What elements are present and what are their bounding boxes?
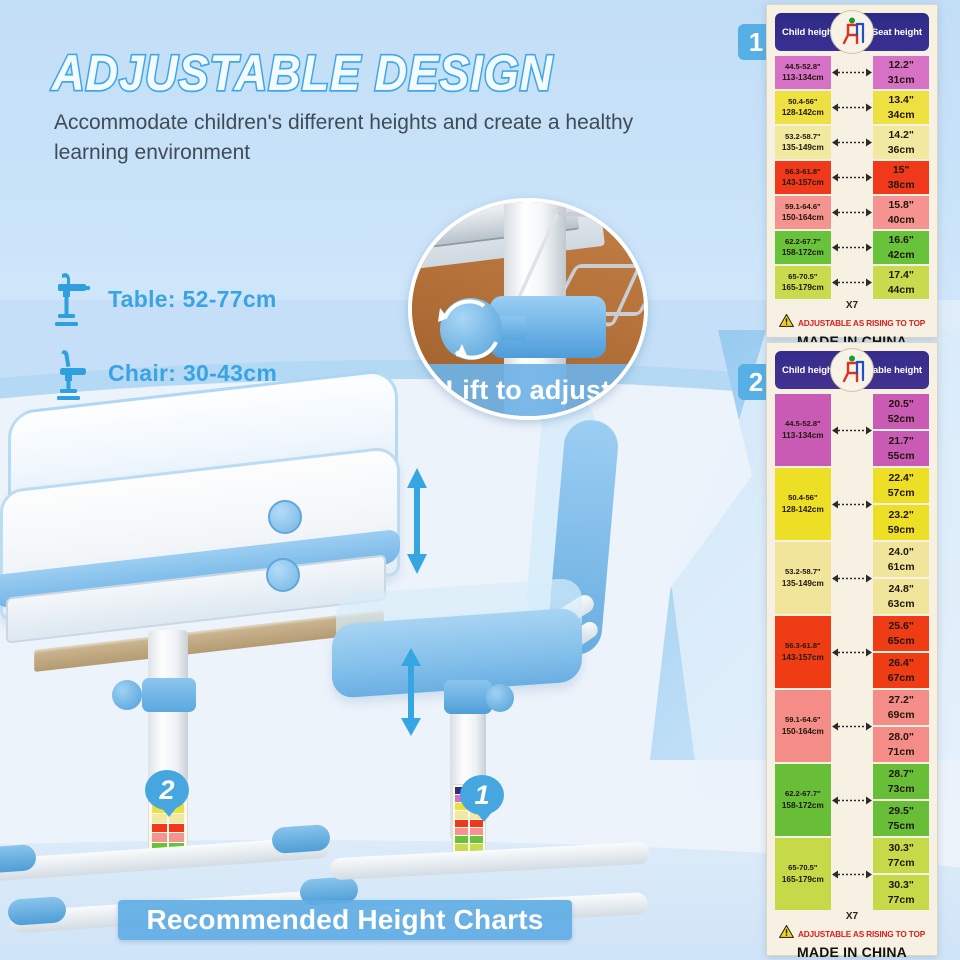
child-height-cm: 165-179cm	[782, 874, 824, 886]
chart-body: 44.5-52.8" 113-134cm 50.4-56" 128-142cm …	[775, 394, 929, 910]
chair-foot-bar-rear	[330, 842, 651, 881]
child-height-cm: 135-149cm	[782, 142, 824, 154]
desk-collar-knob	[112, 680, 142, 710]
chair-collar-knob	[486, 684, 514, 712]
table-row: 16.6" 42cm	[873, 231, 929, 264]
pairing-arrow-icon	[832, 126, 872, 159]
badge-desk-2: 2	[145, 770, 189, 810]
table-row: 15" 38cm	[873, 161, 929, 194]
child-height-cm: 158-172cm	[782, 800, 824, 812]
table-row: 28.0" 71cm	[873, 727, 929, 762]
rotate-arrow-icon	[436, 292, 506, 366]
table-row: 65-70.5" 165-179cm	[775, 838, 831, 910]
child-height-in: 53.2-58.7"	[785, 566, 821, 577]
child-height-in: 59.1-64.6"	[785, 714, 821, 725]
chart-table-height-column: 20.5" 52cm 21.7" 55cm 22.4" 57cm 23.2" 5…	[873, 394, 929, 910]
child-height-in: 56.3-61.8"	[785, 640, 821, 651]
table-height-chart: Child height Table height 44.5-52.8"	[766, 342, 938, 956]
table-height-in: 29.5"	[888, 804, 913, 818]
chart-origin: MADE IN CHINA	[775, 944, 929, 960]
table-row: 59.1-64.6" 150-164cm	[775, 196, 831, 229]
child-height-cm: 165-179cm	[782, 282, 824, 294]
table-row: 24.8" 63cm	[873, 579, 929, 614]
table-height-cm: 52cm	[888, 412, 915, 426]
seat-height-cm: 44cm	[888, 283, 915, 297]
table-height-cm: 73cm	[888, 782, 915, 796]
child-height-cm: 128-142cm	[782, 107, 824, 119]
seat-height-chart: Child height Seat height 44.5-52.8"	[766, 4, 938, 338]
seat-height-in: 15"	[893, 163, 910, 177]
chart-warning: ADJUSTABLE AS RISING TO TOP	[775, 314, 929, 332]
child-height-cm: 143-157cm	[782, 652, 824, 664]
seat-height-cm: 38cm	[888, 178, 915, 192]
chart-warning: ADJUSTABLE AS RISING TO TOP	[775, 925, 929, 943]
table-row: 29.5" 75cm	[873, 801, 929, 836]
table-row: 62.2-67.7" 158-172cm	[775, 231, 831, 264]
pairing-arrow-icon	[832, 91, 872, 124]
table-height-in: 26.4"	[888, 656, 913, 670]
chart-seat-height-column: 12.2" 31cm 13.4" 34cm 14.2" 36cm 15" 38c…	[873, 56, 929, 299]
table-height-cm: 77cm	[888, 856, 915, 870]
promo-image: ADJUSTABLE DESIGN Accommodate children's…	[0, 0, 960, 960]
table-row: 44.5-52.8" 113-134cm	[775, 56, 831, 89]
child-height-in: 62.2-67.7"	[785, 788, 821, 799]
seat-height-in: 16.6"	[888, 233, 913, 247]
child-height-in: 65-70.5"	[788, 271, 817, 282]
chart-child-height-column: 44.5-52.8" 113-134cm 50.4-56" 128-142cm …	[775, 394, 831, 910]
pairing-arrow-icon	[832, 542, 872, 614]
child-height-in: 53.2-58.7"	[785, 131, 821, 142]
table-row: 50.4-56" 128-142cm	[775, 468, 831, 540]
seat-height-cm: 31cm	[888, 73, 915, 87]
table-height-in: 30.3"	[888, 878, 913, 892]
table-row: 26.4" 67cm	[873, 653, 929, 688]
table-height-in: 25.6"	[888, 619, 913, 633]
table-row: 25.6" 65cm	[873, 616, 929, 651]
table-height-in: 27.2"	[888, 693, 913, 707]
table-height-in: 28.0"	[888, 730, 913, 744]
table-row: 59.1-64.6" 150-164cm	[775, 690, 831, 762]
table-row: 15.8" 40cm	[873, 196, 929, 229]
chart-multiplier: X7	[775, 300, 929, 311]
chart-col-table-height: Table height	[868, 365, 922, 376]
pairing-arrow-icon	[832, 468, 872, 540]
child-height-cm: 143-157cm	[782, 177, 824, 189]
pairing-arrow-icon	[832, 838, 872, 910]
desk-knob-upper	[268, 500, 302, 534]
child-height-cm: 150-164cm	[782, 212, 824, 224]
child-height-cm: 150-164cm	[782, 726, 824, 738]
table-row: 50.4-56" 128-142cm	[775, 91, 831, 124]
table-height-cm: 63cm	[888, 597, 915, 611]
child-height-in: 44.5-52.8"	[785, 418, 821, 429]
child-height-cm: 158-172cm	[782, 247, 824, 259]
seated-child-icon	[830, 348, 874, 392]
chart-col-seat-height: Seat height	[872, 27, 922, 38]
table-height-in: 24.8"	[888, 582, 913, 596]
table-row: 44.5-52.8" 113-134cm	[775, 394, 831, 466]
table-height-cm: 69cm	[888, 708, 915, 722]
child-height-in: 62.2-67.7"	[785, 236, 821, 247]
table-row: 65-70.5" 165-179cm	[775, 266, 831, 299]
chart-header-row: Child height Seat height	[775, 13, 929, 51]
table-row: 20.5" 52cm	[873, 394, 929, 429]
seated-child-icon	[830, 10, 874, 54]
spec-table: Table: 52-77cm	[52, 270, 277, 328]
chart-header-row: Child height Table height	[775, 351, 929, 389]
pairing-arrow-icon	[832, 161, 872, 194]
seat-height-in: 15.8"	[888, 198, 913, 212]
pairing-arrow-icon	[832, 690, 872, 762]
table-row: 14.2" 36cm	[873, 126, 929, 159]
recommended-height-charts-banner: Recommended Height Charts	[118, 900, 572, 940]
table-row: 27.2" 69cm	[873, 690, 929, 725]
child-height-in: 50.4-56"	[788, 96, 817, 107]
seat-height-cm: 34cm	[888, 108, 915, 122]
table-height-in: 24.0"	[888, 545, 913, 559]
chart-child-height-column: 44.5-52.8" 113-134cm 50.4-56" 128-142cm …	[775, 56, 831, 299]
table-height-in: 30.3"	[888, 841, 913, 855]
chair-collar	[444, 680, 492, 714]
desk-icon	[52, 270, 96, 328]
child-height-in: 59.1-64.6"	[785, 201, 821, 212]
table-height-in: 20.5"	[888, 397, 913, 411]
pairing-arrow-icon	[832, 231, 872, 264]
table-height-cm: 77cm	[888, 893, 915, 907]
table-row: 22.4" 57cm	[873, 468, 929, 503]
seat-height-cm: 42cm	[888, 248, 915, 262]
badge-chair-1: 1	[460, 775, 504, 815]
table-height-cm: 67cm	[888, 671, 915, 685]
seat-height-in: 13.4"	[888, 93, 913, 107]
child-height-in: 50.4-56"	[788, 492, 817, 503]
chart-body: 44.5-52.8" 113-134cm 50.4-56" 128-142cm …	[775, 56, 929, 299]
table-row: 56.3-61.8" 143-157cm	[775, 161, 831, 194]
height-arrow-chair-icon	[398, 646, 424, 743]
child-height-in: 56.3-61.8"	[785, 166, 821, 177]
pairing-arrow-icon	[832, 56, 872, 89]
table-row: 56.3-61.8" 143-157cm	[775, 616, 831, 688]
table-row: 62.2-67.7" 158-172cm	[775, 764, 831, 836]
warning-triangle-icon	[779, 314, 794, 332]
table-row: 12.2" 31cm	[873, 56, 929, 89]
table-row: 28.7" 73cm	[873, 764, 929, 799]
table-row: 13.4" 34cm	[873, 91, 929, 124]
desk-foot-cap	[271, 824, 331, 854]
table-row: 21.7" 55cm	[873, 431, 929, 466]
page-subtitle: Accommodate children's different heights…	[54, 108, 634, 169]
pairing-arrow-icon	[832, 764, 872, 836]
child-height-cm: 113-134cm	[782, 72, 823, 84]
pairing-arrow-icon	[832, 616, 872, 688]
table-row: 30.3" 77cm	[873, 838, 929, 873]
child-height-in: 65-70.5"	[788, 862, 817, 873]
table-height-cm: 65cm	[888, 634, 915, 648]
warning-triangle-icon	[779, 925, 794, 943]
chart-multiplier: X7	[775, 911, 929, 922]
table-height-in: 28.7"	[888, 767, 913, 781]
table-row: 53.2-58.7" 135-149cm	[775, 542, 831, 614]
seat-height-in: 14.2"	[888, 128, 913, 142]
table-row: 24.0" 61cm	[873, 542, 929, 577]
child-height-cm: 128-142cm	[782, 504, 824, 516]
seat-height-in: 17.4"	[888, 268, 913, 282]
seat-height-in: 12.2"	[888, 58, 913, 72]
pairing-arrow-icon	[832, 196, 872, 229]
spec-table-label: Table: 52-77cm	[108, 286, 277, 313]
warning-text: ADJUSTABLE AS RISING TO TOP	[798, 929, 925, 939]
child-height-cm: 113-134cm	[782, 430, 823, 442]
callout-label: Lift to adjust	[412, 364, 644, 416]
chart-col-child-height: Child height	[782, 365, 836, 376]
child-height-in: 44.5-52.8"	[785, 61, 821, 72]
page-title: ADJUSTABLE DESIGN	[52, 44, 553, 102]
table-row: 17.4" 44cm	[873, 266, 929, 299]
lift-to-adjust-callout: Lift to adjust	[408, 198, 648, 420]
table-row: 23.2" 59cm	[873, 505, 929, 540]
table-row: 30.3" 77cm	[873, 875, 929, 910]
table-height-cm: 59cm	[888, 523, 915, 537]
desk-knob-lower	[266, 558, 300, 592]
product-photo	[0, 380, 700, 960]
pairing-arrow-icon	[832, 266, 872, 299]
height-arrow-desk-icon	[404, 466, 430, 581]
table-height-cm: 57cm	[888, 486, 915, 500]
table-row: 53.2-58.7" 135-149cm	[775, 126, 831, 159]
table-height-in: 23.2"	[888, 508, 913, 522]
seat-height-cm: 36cm	[888, 143, 915, 157]
warning-text: ADJUSTABLE AS RISING TO TOP	[798, 318, 925, 328]
chart-arrow-column	[831, 56, 874, 299]
seat-height-cm: 40cm	[888, 213, 915, 227]
desk-foot-cap	[7, 896, 67, 926]
desk-collar	[142, 678, 196, 712]
chart-arrow-column	[831, 394, 874, 910]
table-height-cm: 75cm	[888, 819, 915, 833]
chart-col-child-height: Child height	[782, 27, 836, 38]
table-height-cm: 61cm	[888, 560, 915, 574]
table-height-in: 21.7"	[888, 434, 913, 448]
pairing-arrow-icon	[832, 394, 872, 466]
table-height-in: 22.4"	[888, 471, 913, 485]
table-height-cm: 55cm	[888, 449, 915, 463]
child-height-cm: 135-149cm	[782, 578, 824, 590]
table-height-cm: 71cm	[888, 745, 915, 759]
